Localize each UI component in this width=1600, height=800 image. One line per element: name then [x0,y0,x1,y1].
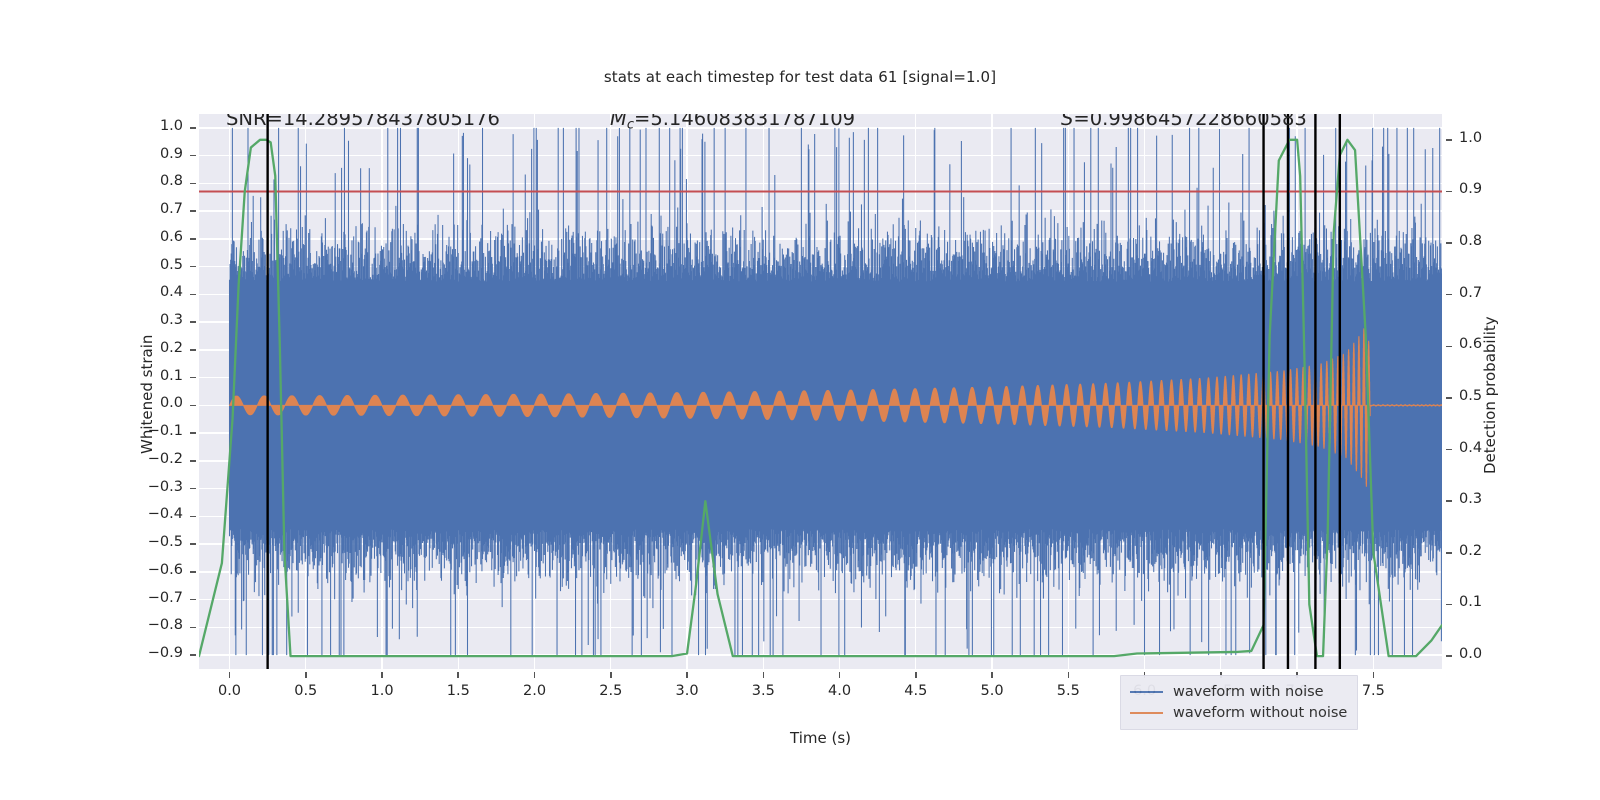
x-axis-tick-mark [381,672,383,678]
y-axis-left-tick-label: 1.0 [137,118,183,134]
y-axis-right-tick-label: 1.0 [1459,130,1482,146]
y-axis-left-tick-label: −0.9 [137,645,183,661]
y-axis-left-tick-mark [190,627,196,629]
annotation-snr: SNR=14.289578437805176 [226,114,500,130]
x-axis-tick-mark [610,672,612,678]
annotation-snr-label: SNR= [226,114,283,130]
data-layer [199,114,1442,669]
plot-area: SNR=14.289578437805176 Mc=5.146083831787… [199,114,1442,669]
y-axis-left-tick-mark [190,405,196,407]
x-axis-tick-label: 4.0 [810,683,870,699]
y-axis-right-tick-mark [1446,294,1452,296]
x-axis-tick-mark [534,672,536,678]
y-axis-left-tick-label: 0.3 [137,312,183,328]
x-axis-tick-label: 1.0 [352,683,412,699]
y-axis-right-tick-mark [1446,655,1452,657]
y-axis-right-tick-label: 0.9 [1459,181,1482,197]
y-axis-left-tick-label: 0.2 [137,340,183,356]
y-axis-left-tick-label: 0.8 [137,173,183,189]
x-axis-tick-label: 0.5 [276,683,336,699]
y-axis-right-tick-label: 0.1 [1459,594,1482,610]
y-axis-left-tick-label: −0.6 [137,562,183,578]
x-axis-tick-mark [305,672,307,678]
y-axis-left-tick-mark [190,543,196,545]
x-axis-tick-label: 3.0 [657,683,717,699]
annotation-chirp-mass: Mc=5.146083831787109 [610,114,855,132]
legend-item-label: waveform without noise [1173,705,1347,721]
x-axis-tick-label: 5.0 [962,683,1022,699]
x-axis-tick-label: 3.5 [733,683,793,699]
legend-swatch-icon [1130,691,1163,693]
y-axis-right-tick-label: 0.2 [1459,543,1482,559]
y-axis-right-tick-label: 0.8 [1459,233,1482,249]
annotation-chirp-mass-value: 5.146083831787109 [650,114,855,130]
x-axis-tick-mark [457,672,459,678]
y-axis-left-tick-mark [190,183,196,185]
y-axis-right-tick-label: 0.0 [1459,646,1482,662]
x-axis-tick-mark [915,672,917,678]
legend-swatch-icon [1130,712,1163,714]
x-axis-tick-label: 2.5 [581,683,641,699]
y-axis-right-tick-label: 0.5 [1459,388,1482,404]
page-title: stats at each timestep for test data 61 … [0,68,1600,86]
x-axis-tick-label: 2.0 [505,683,565,699]
y-axis-right-tick-mark [1446,449,1452,451]
y-axis-right-tick-mark [1446,242,1452,244]
x-axis-tick-mark [839,672,841,678]
y-axis-left-tick-mark [190,266,196,268]
y-axis-left-tick-mark [190,571,196,573]
y-axis-left-tick-mark [190,294,196,296]
y-axis-left-tick-label: 0.7 [137,201,183,217]
y-axis-left-tick-mark [190,432,196,434]
y-axis-left-tick-label: 0.0 [137,395,183,411]
y-axis-left-tick-mark [190,516,196,518]
y-axis-right-tick-label: 0.7 [1459,285,1482,301]
y-axis-left-tick-label: −0.3 [137,479,183,495]
y-axis-left-tick-mark [190,238,196,240]
annotation-score-value: 0.9986457228660583 [1090,114,1307,130]
y-axis-left-tick-mark [190,127,196,129]
y-axis-right-tick-mark [1446,552,1452,554]
annotation-chirp-mass-label: = [634,114,650,130]
legend-item[interactable]: waveform without noise [1130,702,1347,723]
y-axis-left-tick-mark [190,210,196,212]
y-axis-left-tick-label: −0.7 [137,590,183,606]
y-axis-left-tick-mark [190,155,196,157]
annotation-score-label: = [1073,114,1089,130]
y-axis-left-tick-mark [190,599,196,601]
x-axis-tick-mark [763,672,765,678]
y-axis-left-tick-label: 0.9 [137,146,183,162]
y-axis-left-tick-label: −0.2 [137,451,183,467]
legend[interactable]: waveform with noisewaveform without nois… [1120,675,1358,730]
annotation-chirp-mass-subscript: c [627,117,634,132]
y-axis-left-tick-mark [190,321,196,323]
y-axis-right-tick-mark [1446,604,1452,606]
legend-item[interactable]: waveform with noise [1130,681,1347,702]
y-axis-left-tick-mark [190,349,196,351]
y-axis-left-tick-label: −0.5 [137,534,183,550]
annotation-score: S=0.9986457228660583 [1061,114,1307,130]
x-axis-tick-label: 1.5 [428,683,488,699]
annotation-score-symbol: S [1061,114,1073,130]
annotation-chirp-mass-symbol: M [610,114,627,130]
x-axis-tick-mark [686,672,688,678]
x-axis-tick-label: 4.5 [886,683,946,699]
y-axis-right-tick-mark [1446,139,1452,141]
annotation-snr-value: 14.289578437805176 [283,114,500,130]
x-axis-tick-label: 0.0 [200,683,260,699]
x-axis-tick-mark [991,672,993,678]
y-axis-left-tick-label: −0.8 [137,617,183,633]
y-axis-left-tick-mark [190,377,196,379]
y-axis-right-tick-label: 0.3 [1459,491,1482,507]
y-axis-right-tick-mark [1446,346,1452,348]
y-axis-left-tick-label: −0.4 [137,506,183,522]
legend-item-label: waveform with noise [1173,684,1324,700]
x-axis-tick-mark [1068,672,1070,678]
y-axis-left-tick-label: 0.6 [137,229,183,245]
x-axis-label: Time (s) [199,729,1442,747]
y-axis-right-tick-label: 0.4 [1459,440,1482,456]
y-axis-right-label: Detection probability [1481,316,1499,474]
y-axis-left-tick-label: −0.1 [137,423,183,439]
y-axis-left-tick-mark [190,460,196,462]
y-axis-left-tick-label: 0.4 [137,284,183,300]
y-axis-right-tick-mark [1446,191,1452,193]
series-waveform-with-noise [230,128,1443,655]
x-axis-tick-mark [229,672,231,678]
x-axis-tick-label: 5.5 [1038,683,1098,699]
y-axis-right-tick-mark [1446,397,1452,399]
y-axis-left-tick-label: 0.5 [137,257,183,273]
y-axis-left-tick-label: 0.1 [137,368,183,384]
y-axis-right-tick-mark [1446,500,1452,502]
x-axis-tick-mark [1373,672,1375,678]
y-axis-left-tick-mark [190,488,196,490]
figure-canvas: stats at each timestep for test data 61 … [0,0,1600,800]
y-axis-right-tick-label: 0.6 [1459,336,1482,352]
y-axis-left-tick-mark [190,654,196,656]
